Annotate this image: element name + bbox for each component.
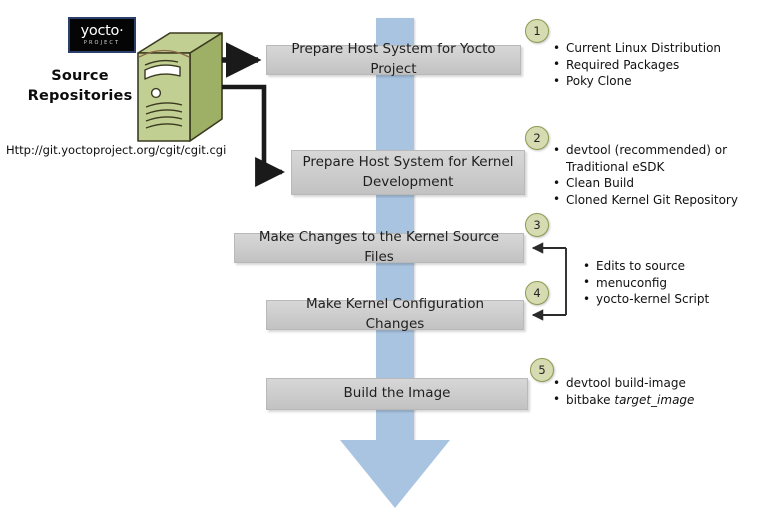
- process-box-label: Make Changes to the Kernel Source Files: [245, 228, 513, 267]
- bullet-item-continuation: Traditional eSDK: [553, 159, 738, 176]
- source-repositories-label: Source Repositories: [20, 66, 140, 106]
- server-tower-icon: [134, 31, 226, 147]
- step-circle-3: 3: [525, 213, 549, 237]
- bullet-item-prefix: bitbake: [566, 393, 614, 407]
- process-box-make-source-changes[interactable]: Make Changes to the Kernel Source Files: [234, 233, 524, 263]
- step-number: 1: [533, 24, 540, 38]
- main-flow-arrow-head: [340, 440, 450, 508]
- process-box-label: Build the Image: [344, 384, 451, 404]
- connector-server-to-box2: [222, 87, 282, 172]
- process-box-label: Make Kernel Configuration Changes: [277, 295, 513, 334]
- step-circle-4: 4: [525, 281, 549, 305]
- step-circle-5: 5: [530, 358, 554, 382]
- logo-dot: ·: [119, 23, 123, 39]
- bullet-item: devtool build-image: [553, 375, 694, 392]
- source-label-line-1: Source: [20, 66, 140, 86]
- bullet-item: Required Packages: [553, 57, 721, 74]
- logo-wordmark: yocto: [81, 23, 119, 39]
- step-circle-2: 2: [525, 126, 549, 150]
- yocto-project-logo: yocto· PROJECT: [68, 17, 136, 53]
- step-1-bullet-list: Current Linux Distribution Required Pack…: [553, 40, 721, 90]
- process-box-prepare-host-kernel[interactable]: Prepare Host System for Kernel Developme…: [291, 150, 525, 195]
- process-box-label: Prepare Host System for Kernel Developme…: [302, 153, 514, 192]
- bullet-item: Cloned Kernel Git Repository: [553, 192, 738, 209]
- bullet-item: devtool (recommended) or: [553, 142, 738, 159]
- bullet-item: Edits to source: [583, 258, 709, 275]
- source-label-line-2: Repositories: [20, 86, 140, 106]
- bullet-item-emphasis: target_image: [614, 393, 694, 407]
- step-5-bullet-list: devtool build-image bitbake target_image: [553, 375, 694, 408]
- step-number: 2: [533, 131, 540, 145]
- process-box-label: Prepare Host System for Yocto Project: [277, 40, 510, 79]
- process-box-make-config-changes[interactable]: Make Kernel Configuration Changes: [266, 300, 524, 330]
- step-number: 4: [533, 286, 540, 300]
- bullet-item: Current Linux Distribution: [553, 40, 721, 57]
- step-number: 3: [533, 218, 540, 232]
- bullet-item: Clean Build: [553, 175, 738, 192]
- bullet-item: menuconfig: [583, 275, 709, 292]
- step-4-bullet-list: Edits to source menuconfig yocto-kernel …: [583, 258, 709, 308]
- process-box-prepare-host-yocto[interactable]: Prepare Host System for Yocto Project: [266, 45, 521, 75]
- bullet-item: yocto-kernel Script: [583, 291, 709, 308]
- logo-subtitle: PROJECT: [84, 40, 120, 46]
- step-2-bullet-list: devtool (recommended) or Traditional eSD…: [553, 142, 738, 208]
- workflow-diagram: yocto· PROJECT Source Repositories Http:…: [0, 0, 769, 517]
- process-box-build-image[interactable]: Build the Image: [266, 378, 528, 410]
- step-circle-1: 1: [525, 19, 549, 43]
- bullet-item: Poky Clone: [553, 73, 721, 90]
- step-number: 5: [538, 363, 545, 377]
- bullet-item: bitbake target_image: [553, 392, 694, 409]
